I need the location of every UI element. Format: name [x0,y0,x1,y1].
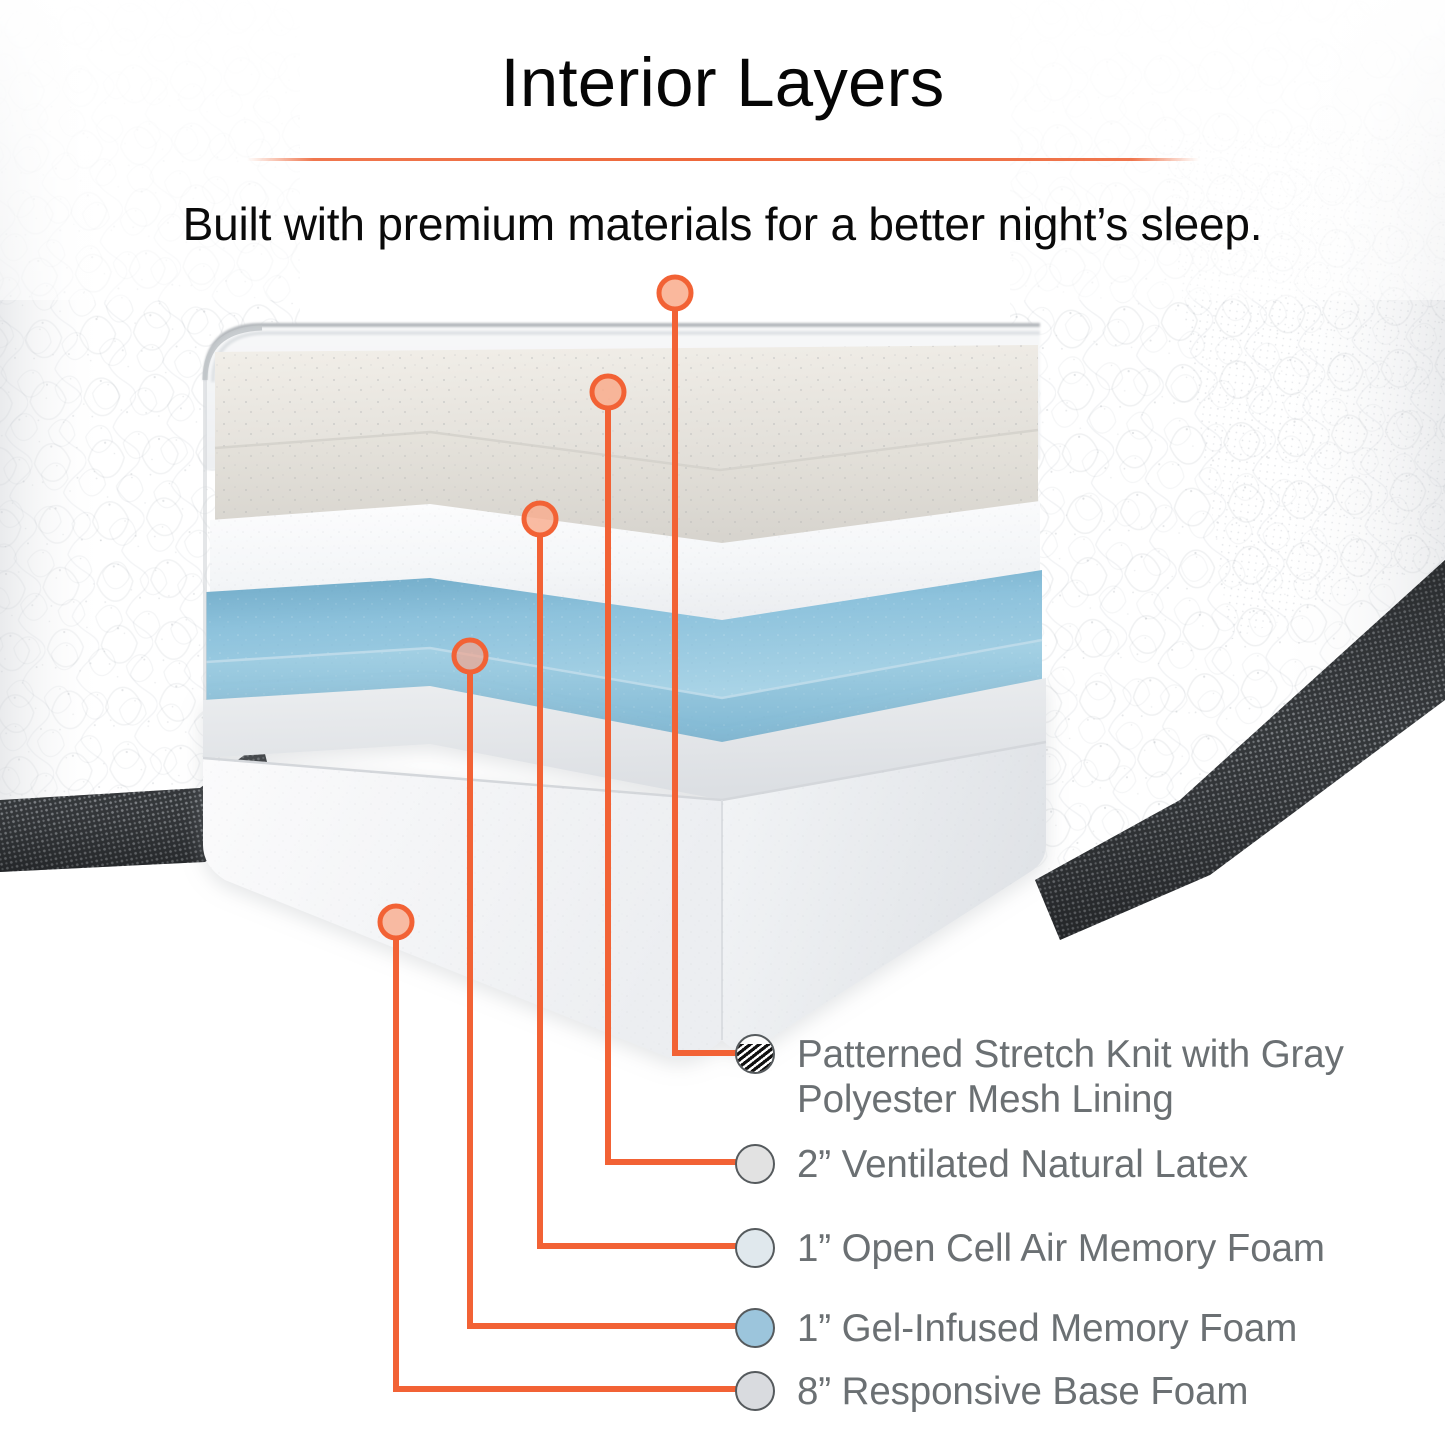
legend-label-gel: 1” Gel-Infused Memory Foam [797,1306,1297,1351]
mesh-swatch-icon [735,1034,775,1074]
legend-label-latex: 2” Ventilated Natural Latex [797,1142,1248,1187]
legend-item-gel: 1” Gel-Infused Memory Foam [735,1306,1435,1351]
legend-label-base: 8” Responsive Base Foam [797,1369,1248,1414]
latex-swatch-icon [735,1144,775,1184]
page-title: Interior Layers [0,0,1445,117]
legend-item-open-cell: 1” Open Cell Air Memory Foam [735,1226,1435,1271]
header: Interior Layers Built with premium mater… [0,0,1445,251]
legend-label-open-cell: 1” Open Cell Air Memory Foam [797,1226,1325,1271]
title-divider [247,158,1199,161]
legend-item-latex: 2” Ventilated Natural Latex [735,1142,1435,1187]
gel-swatch-icon [735,1308,775,1348]
open-cell-swatch-icon [735,1228,775,1268]
base-swatch-icon [735,1371,775,1411]
legend-item-cover: Patterned Stretch Knit with Gray Polyest… [735,1032,1435,1122]
page-subtitle: Built with premium materials for a bette… [0,197,1445,251]
interior-layers-infographic: Interior Layers Built with premium mater… [0,0,1445,1445]
legend-label-cover: Patterned Stretch Knit with Gray Polyest… [797,1032,1344,1122]
legend-item-base: 8” Responsive Base Foam [735,1369,1435,1414]
